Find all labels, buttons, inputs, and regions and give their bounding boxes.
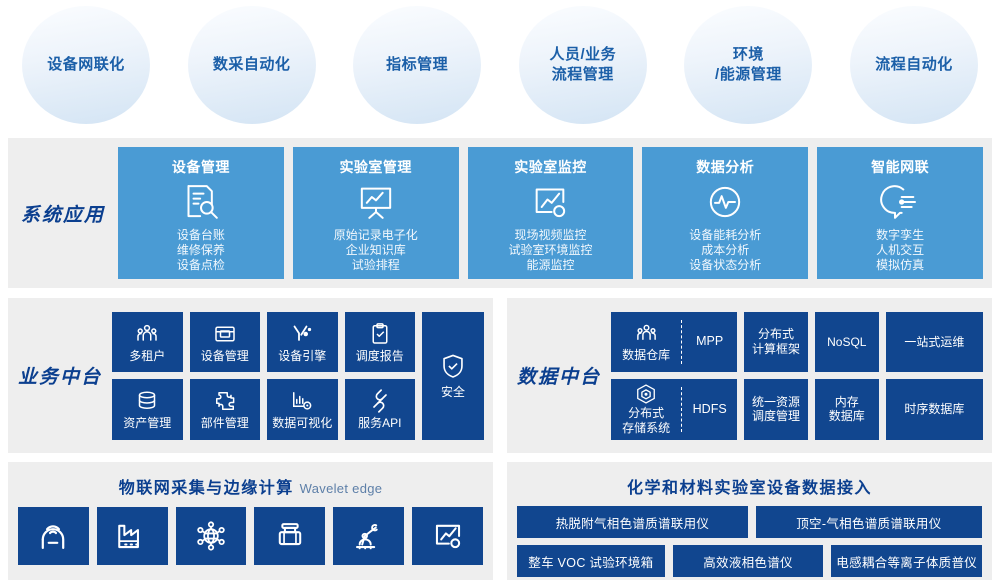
data-tile-storage-hdfs[interactable]: 分布式 存储系统 HDFS [611, 379, 737, 440]
data-tile-label: 内存 数据库 [829, 395, 865, 424]
puzzle-icon [213, 388, 237, 414]
factory-icon [115, 519, 149, 553]
data-tile-hdfs[interactable]: HDFS [682, 379, 737, 440]
business-tile-col: 多租户 资产管理 [112, 312, 183, 440]
data-tile-label-line: 存储系统 [622, 421, 670, 435]
data-platform-label-wrap: 数据中台 [507, 362, 611, 389]
pulse-circle-icon [705, 180, 745, 224]
app-card-lab-monitoring[interactable]: 实验室监控 现场视频监控 试验室环境监控 能源监控 [468, 147, 634, 279]
data-tile-col: NoSQL 内存 数据库 [815, 312, 879, 440]
data-tile-label: 一站式运维 [904, 335, 964, 349]
data-tile-label-line: 内存 [829, 395, 865, 409]
system-application-label: 系统应用 [21, 200, 105, 227]
data-tile-distributed-storage[interactable]: 分布式 存储系统 [611, 379, 681, 440]
business-tile-multi-tenant[interactable]: 多租户 [112, 312, 183, 373]
capability-ellipse[interactable]: 数采自动化 [188, 6, 316, 124]
app-sub-line: 设备台账 [177, 228, 225, 243]
data-tile-nosql[interactable]: NoSQL [815, 312, 879, 373]
system-application-label-wrap: 系统应用 [8, 200, 118, 227]
data-tile-label-line: 分布式 [752, 327, 800, 341]
business-tile-label: 部件管理 [201, 416, 249, 430]
ai-head-icon [880, 180, 920, 224]
database-coin-icon [135, 388, 159, 414]
clipboard-check-icon [368, 321, 392, 347]
network-globe-icon [194, 519, 228, 553]
plug-connect-icon [368, 388, 392, 414]
data-tile-label: 分布式 存储系统 [622, 406, 670, 435]
system-application-panel: 系统应用 设备管理 设备台账 维修保养 设备点检 [8, 138, 992, 288]
capability-line: 流程管理 [549, 65, 616, 85]
app-card-sub: 设备能耗分析 成本分析 设备状态分析 [689, 228, 761, 273]
multi-tenant-icon [135, 321, 159, 347]
lab-data-row: 整车 VOC 试验环境箱 高效液相色谱仪 电感耦合等离子体质普仪 [517, 545, 982, 577]
warehouse-people-icon [635, 322, 658, 346]
capability-ellipse[interactable]: 指标管理 [353, 6, 481, 124]
data-tile-label: 时序数据库 [904, 402, 964, 416]
iot-icon-tile-sensor[interactable] [254, 507, 325, 565]
business-tile-label: 数据可视化 [272, 416, 332, 430]
data-tile-distributed-computing[interactable]: 分布式 计算框架 [744, 312, 808, 373]
data-tile-label-line: 一站式运维 [904, 335, 964, 349]
data-platform-grid: 数据仓库 MPP [611, 312, 992, 440]
capability-ellipse[interactable]: 环境 /能源管理 [684, 6, 812, 124]
business-platform-label-wrap: 业务中台 [8, 362, 112, 389]
storage-cube-icon [635, 383, 657, 405]
data-tile-label: 分布式 计算框架 [752, 327, 800, 356]
capability-ellipse-row: 设备网联化 数采自动化 指标管理 人员/业务 流程管理 环境 /能源管理 流程自… [0, 0, 1000, 130]
data-tile-label-line: 调度管理 [752, 409, 800, 423]
data-tile-one-stop-ops[interactable]: 一站式运维 [886, 312, 983, 373]
app-card-sub: 原始记录电子化 企业知识库 试验排程 [334, 228, 418, 273]
data-tile-col: 分布式 计算框架 统一资源 调度管理 [744, 312, 808, 440]
app-sub-line: 维修保养 [177, 243, 225, 258]
app-card-data-analysis[interactable]: 数据分析 设备能耗分析 成本分析 设备状态分析 [642, 147, 808, 279]
iot-icon-tile-robot-arm[interactable] [333, 507, 404, 565]
iot-edge-subtitle: Wavelet edge [300, 481, 383, 496]
wifi-gateway-icon [36, 519, 70, 553]
data-tile-label-line: 数据库 [829, 409, 865, 423]
iot-icon-row [8, 498, 493, 565]
capability-ellipse[interactable]: 流程自动化 [850, 6, 978, 124]
app-sub-line: 数字孪生 [876, 228, 924, 243]
device-box-icon [213, 321, 237, 347]
data-tile-unified-resource-scheduling[interactable]: 统一资源 调度管理 [744, 379, 808, 440]
lab-device-button[interactable]: 电感耦合等离子体质普仪 [831, 545, 982, 577]
sensor-device-icon [273, 519, 307, 553]
app-sub-line: 人机交互 [876, 243, 924, 258]
shield-check-icon [440, 352, 466, 380]
business-tile-label: 资产管理 [123, 416, 171, 430]
lab-data-row: 热脱附气相色谱质谱联用仪 顶空-气相色谱质谱联用仪 [517, 506, 982, 538]
iot-icon-tile-factory[interactable] [97, 507, 168, 565]
lab-device-button[interactable]: 顶空-气相色谱质谱联用仪 [756, 506, 982, 538]
business-platform-label: 业务中台 [18, 362, 102, 389]
lab-device-button[interactable]: 热脱附气相色谱质谱联用仪 [517, 506, 748, 538]
app-sub-line: 模拟仿真 [876, 258, 924, 273]
robot-arm-icon [352, 519, 386, 553]
business-tile-data-visualization[interactable]: 数据可视化 [267, 379, 338, 440]
business-tile-col: 调度报告 服务API [345, 312, 416, 440]
app-sub-line: 原始记录电子化 [334, 228, 418, 243]
data-tile-warehouse-mpp[interactable]: 数据仓库 MPP [611, 312, 737, 373]
data-tile-label: 统一资源 调度管理 [752, 395, 800, 424]
data-tile-warehouse[interactable]: 数据仓库 [611, 312, 681, 373]
data-tile-label: HDFS [693, 402, 727, 417]
app-sub-line: 企业知识库 [334, 243, 418, 258]
capability-ellipse[interactable]: 设备网联化 [22, 6, 150, 124]
app-card-lab-management[interactable]: 实验室管理 原始记录电子化 企业知识库 试验排程 [293, 147, 459, 279]
lab-data-rows: 热脱附气相色谱质谱联用仪 顶空-气相色谱质谱联用仪 整车 VOC 试验环境箱 高… [507, 498, 992, 577]
data-tile-label: 数据仓库 [622, 348, 670, 362]
data-tile-memory-database[interactable]: 内存 数据库 [815, 379, 879, 440]
capability-line: 设备网联化 [47, 55, 125, 75]
business-platform-grid: 多租户 资产管理 [112, 312, 493, 440]
iot-icon-tile-gateway[interactable] [18, 507, 89, 565]
business-tile-label: 设备引擎 [278, 349, 326, 363]
app-card-sub: 设备台账 维修保养 设备点检 [177, 228, 225, 273]
business-tile-label: 调度报告 [356, 349, 404, 363]
business-tile-col: 设备引擎 数据可视化 [267, 312, 338, 440]
capability-ellipse[interactable]: 人员/业务 流程管理 [519, 6, 647, 124]
node-graph-icon [290, 321, 314, 347]
app-card-title: 智能网联 [871, 157, 929, 177]
capability-line: 人员/业务 [549, 45, 616, 65]
app-card-title: 实验室管理 [339, 157, 412, 177]
app-card-sub: 现场视频监控 试验室环境监控 能源监控 [508, 228, 592, 273]
business-tile-device-management[interactable]: 设备管理 [190, 312, 261, 373]
app-sub-line: 现场视频监控 [508, 228, 592, 243]
data-platform-panel: 数据中台 数据仓库 MPP [507, 298, 992, 453]
capability-line: /能源管理 [715, 65, 782, 85]
business-platform-panel: 业务中台 多租户 [8, 298, 493, 453]
business-tile-service-api[interactable]: 服务API [345, 379, 416, 440]
lab-device-button[interactable]: 整车 VOC 试验环境箱 [517, 545, 665, 577]
system-application-cards: 设备管理 设备台账 维修保养 设备点检 实验室管理 [118, 147, 992, 279]
business-tile-label: 设备管理 [201, 349, 249, 363]
data-tile-label-line: 时序数据库 [904, 402, 964, 416]
data-tile-timeseries-database[interactable]: 时序数据库 [886, 379, 983, 440]
capability-line: 数采自动化 [213, 55, 291, 75]
app-sub-line: 成本分析 [689, 243, 761, 258]
iot-icon-tile-monitor[interactable] [412, 507, 483, 565]
business-tile-label: 多租户 [129, 349, 165, 363]
data-tile-label-line: 分布式 [622, 406, 670, 420]
app-card-intelligent-connected[interactable]: 智能网联 数字孪生 人机交互 模拟仿真 [817, 147, 983, 279]
app-card-title: 设备管理 [172, 157, 230, 177]
app-sub-line: 试验排程 [334, 258, 418, 273]
chart-eye-icon [290, 388, 314, 414]
app-sub-line: 设备状态分析 [689, 258, 761, 273]
data-tile-label-line: NoSQL [827, 335, 866, 349]
business-tile-dispatch-report[interactable]: 调度报告 [345, 312, 416, 373]
lab-device-button[interactable]: 高效液相色谱仪 [673, 545, 824, 577]
capability-line: 流程自动化 [875, 55, 953, 75]
app-sub-line: 设备点检 [177, 258, 225, 273]
app-card-sub: 数字孪生 人机交互 模拟仿真 [876, 228, 924, 273]
business-tile-asset-management[interactable]: 资产管理 [112, 379, 183, 440]
business-tile-security[interactable]: 安全 [422, 312, 484, 440]
data-split-col: 数据仓库 MPP [611, 312, 737, 440]
data-tile-label-line: 计算框架 [752, 342, 800, 356]
capability-line: 环境 [715, 45, 782, 65]
business-tile-device-engine[interactable]: 设备引擎 [267, 312, 338, 373]
business-tile-component-management[interactable]: 部件管理 [190, 379, 261, 440]
data-tile-label-line: 统一资源 [752, 395, 800, 409]
iot-icon-tile-network[interactable] [176, 507, 247, 565]
lab-data-title: 化学和材料实验室设备数据接入 [507, 462, 992, 498]
iot-edge-title-wrap: 物联网采集与边缘计算 Wavelet edge [8, 462, 493, 498]
app-card-title: 实验室监控 [514, 157, 587, 177]
data-platform-label: 数据中台 [517, 362, 601, 389]
data-tile-label: MPP [696, 334, 723, 349]
data-tile-mpp[interactable]: MPP [682, 312, 737, 373]
iot-edge-title: 物联网采集与边缘计算 [119, 480, 294, 497]
lab-data-panel: 化学和材料实验室设备数据接入 热脱附气相色谱质谱联用仪 顶空-气相色谱质谱联用仪… [507, 462, 992, 580]
monitor-chart-icon [530, 180, 570, 224]
business-tile-label: 安全 [441, 383, 465, 400]
monitor-chart-icon [431, 519, 465, 553]
data-tile-label: NoSQL [827, 335, 866, 349]
presentation-chart-icon [356, 180, 396, 224]
app-card-title: 数据分析 [696, 157, 754, 177]
app-sub-line: 能源监控 [508, 258, 592, 273]
data-tile-col: 一站式运维 时序数据库 [886, 312, 983, 440]
app-sub-line: 设备能耗分析 [689, 228, 761, 243]
business-tile-col: 设备管理 部件管理 [190, 312, 261, 440]
document-search-icon [181, 180, 221, 224]
app-sub-line: 试验室环境监控 [508, 243, 592, 258]
architecture-diagram: 设备网联化 数采自动化 指标管理 人员/业务 流程管理 环境 /能源管理 流程自… [0, 0, 1000, 588]
capability-line: 指标管理 [386, 55, 448, 75]
iot-edge-panel: 物联网采集与边缘计算 Wavelet edge [8, 462, 493, 580]
business-tile-label: 服务API [358, 416, 401, 430]
app-card-device-management[interactable]: 设备管理 设备台账 维修保养 设备点检 [118, 147, 284, 279]
